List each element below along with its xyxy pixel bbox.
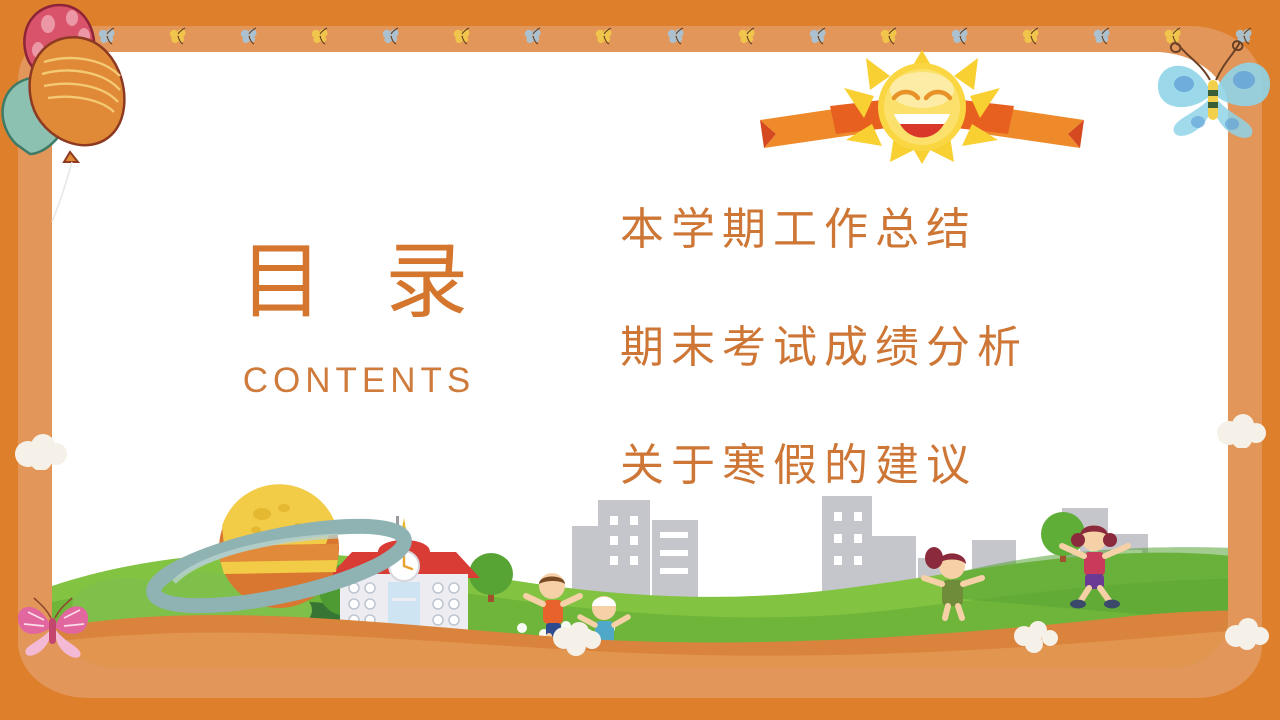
saturn-planet-decoration: [138, 474, 420, 632]
school-building-icon: [328, 516, 480, 632]
canvas-wave-bottom: [52, 622, 1228, 668]
page-subtitle: CONTENTS: [158, 361, 560, 401]
agenda-menu: 本学期工作总结期末考试成绩分析关于寒假的建议: [620, 208, 1140, 488]
contents-heading-block: 目 录 CONTENTS: [150, 238, 560, 401]
page-title: 目 录: [166, 238, 560, 325]
city-buildings-icon: [172, 496, 1186, 612]
canvas-wave-top: [52, 52, 1228, 102]
agenda-item-1[interactable]: 本学期工作总结: [620, 208, 1140, 252]
agenda-item-2[interactable]: 期末考试成绩分析: [620, 326, 1140, 370]
agenda-item-3[interactable]: 关于寒假的建议: [620, 444, 1140, 488]
tree-icon: [319, 512, 1085, 620]
agenda-slide: 目 录 CONTENTS 本学期工作总结期末考试成绩分析关于寒假的建议: [0, 0, 1280, 720]
